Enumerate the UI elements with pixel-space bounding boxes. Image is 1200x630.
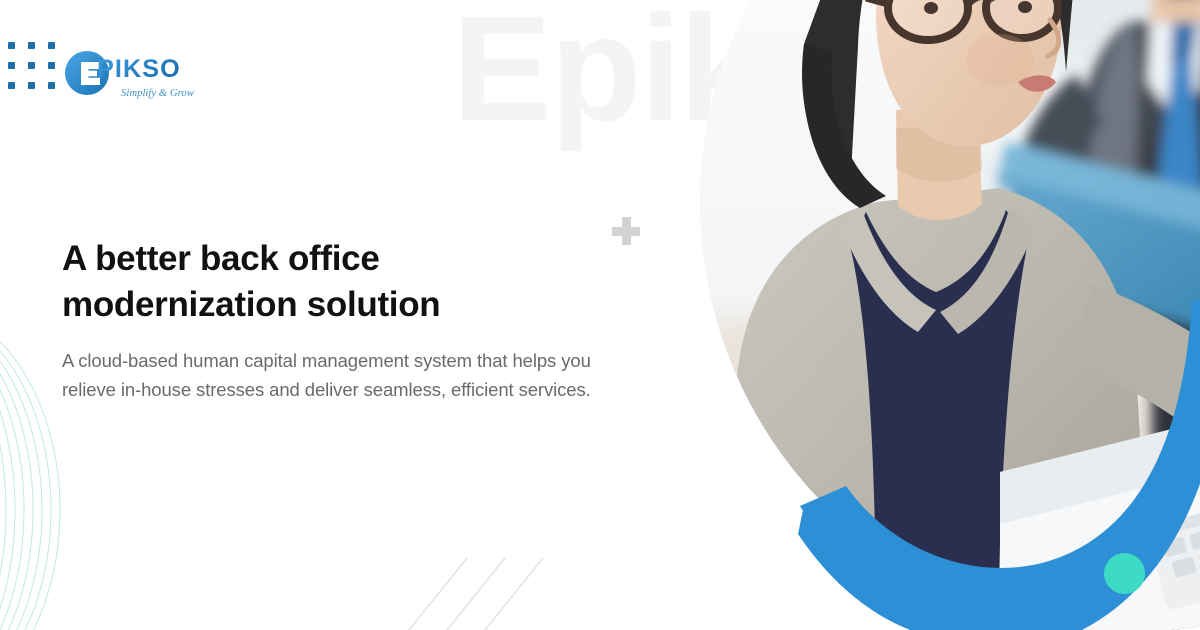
page-title: A better back office modernization solut… [62,236,642,328]
svg-text:PIKSO: PIKSO [97,55,181,83]
brand-tagline: Simplify & Grow [121,84,197,101]
svg-text:Simplify & Grow: Simplify & Grow [121,87,195,99]
epikso-wordmark: PIKSO [97,52,205,86]
headline-line-2: modernization solution [62,285,440,324]
diagonal-lines-decoration [405,545,565,630]
hero-banner: Epikso [0,0,1200,630]
brand-logo[interactable]: PIKSO Simplify & Grow [9,48,209,106]
headline-line-1: A better back office [62,239,380,278]
hero-copy: A better back office modernization solut… [62,236,642,404]
teal-circle-accent [1104,553,1145,594]
hero-subcopy: A cloud-based human capital management s… [62,347,642,405]
